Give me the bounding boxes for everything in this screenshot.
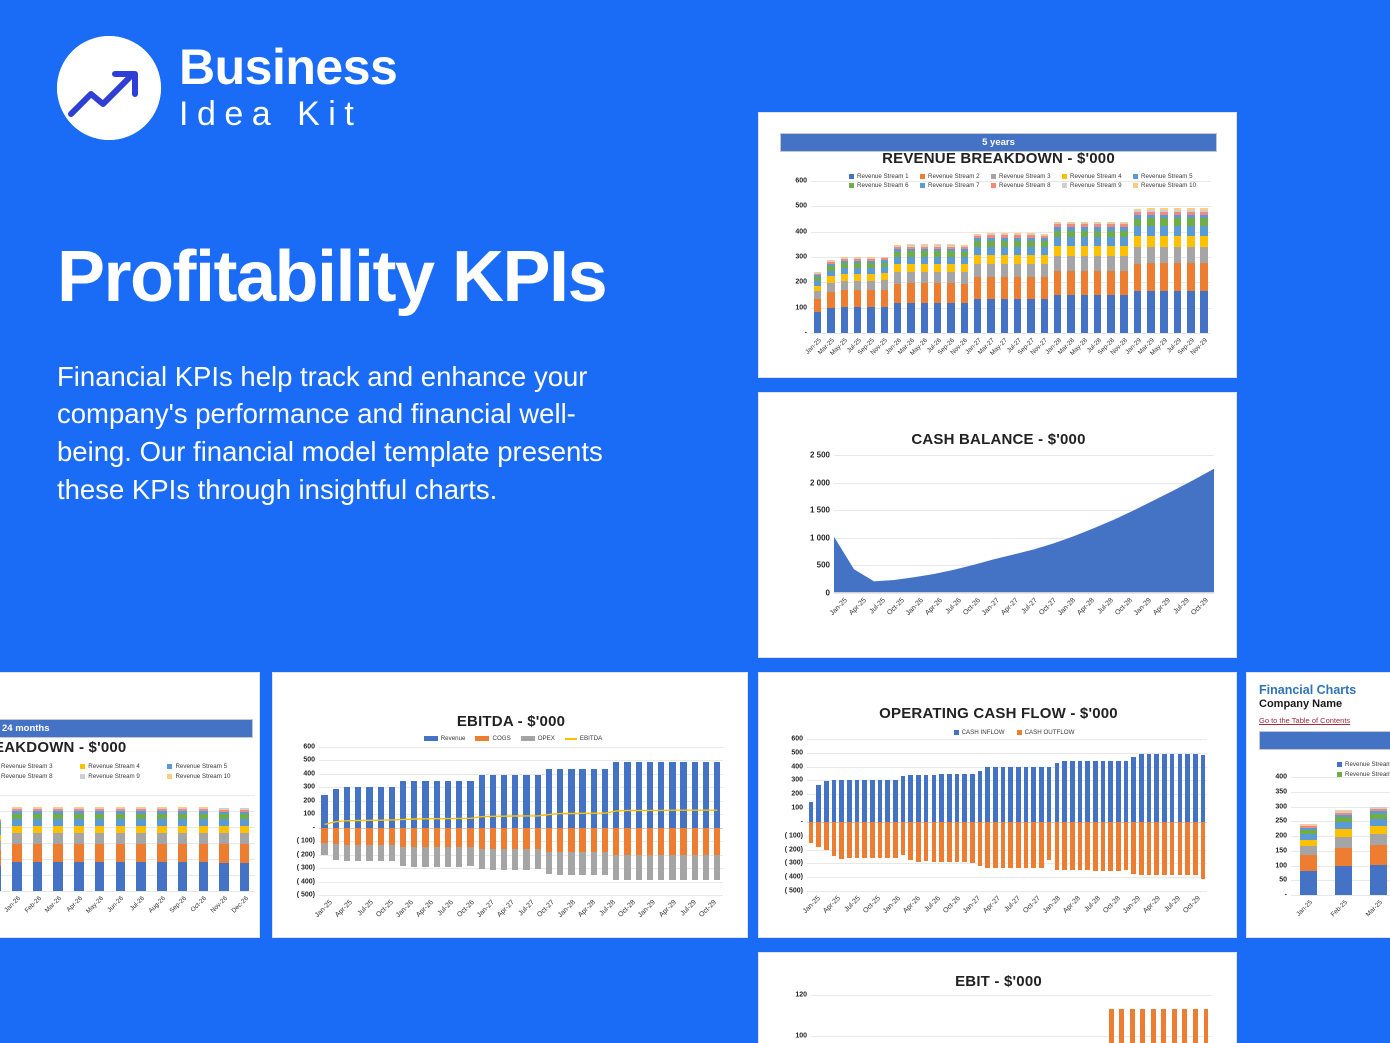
bar-segment <box>921 283 928 303</box>
bar-slot <box>1153 739 1161 891</box>
legend-item: Revenue Stream 4 <box>1062 173 1133 180</box>
bar-segment <box>947 257 954 264</box>
bar-segment <box>854 307 861 333</box>
revenue-bar <box>624 762 630 828</box>
stacked-bar <box>0 819 1 891</box>
x-axis-tick-label: Sep-26 <box>168 895 188 915</box>
stacked-bar <box>1094 222 1101 333</box>
opex-bar <box>523 849 529 869</box>
bar-segment <box>1134 219 1141 226</box>
axis-line <box>834 592 1214 593</box>
x-axis-tick-label: Apr-25 <box>848 597 868 617</box>
cash-outflow-bar <box>1093 822 1098 871</box>
legend-item-revenue: Revenue <box>424 735 466 742</box>
bar-segment <box>0 850 1 866</box>
bar-slot <box>27 795 48 891</box>
bar-segment <box>1160 226 1167 236</box>
bar-segment <box>1054 256 1061 270</box>
revenue-bar <box>378 787 384 827</box>
bar-segment <box>178 862 188 891</box>
bar-slot <box>969 995 980 1043</box>
bar-segment <box>95 844 105 862</box>
opex-bar <box>613 855 619 880</box>
bar-segment <box>907 283 914 303</box>
bar-segment <box>1027 247 1034 255</box>
opex-bar <box>378 845 384 861</box>
bar-segment <box>921 303 928 333</box>
card-operating-cash-flow[interactable]: OPERATING CASH FLOW - $'000 CASH INFLOW … <box>758 672 1237 938</box>
legend-swatch-icon <box>80 764 85 769</box>
bar-segment <box>219 844 229 862</box>
x-axis-tick-label: Oct-26 <box>456 899 476 919</box>
cash-inflow-bar <box>1078 761 1083 822</box>
cogs-bar <box>535 828 541 850</box>
bar-segment <box>814 312 821 333</box>
bar-slot <box>656 747 667 895</box>
y-axis-tick-label: 100 <box>303 811 315 818</box>
bar-slot <box>1184 739 1192 891</box>
bar-segment <box>33 844 43 862</box>
revenue-bar <box>467 781 473 828</box>
revenue-bar <box>411 781 417 828</box>
opex-bar <box>557 852 563 875</box>
y-axis-tick-label: ( 100) <box>297 838 315 845</box>
bar-segment <box>1120 237 1127 246</box>
bar-slot <box>822 995 833 1043</box>
bar-slot <box>811 995 822 1043</box>
cash-inflow-bar <box>1201 755 1206 822</box>
card-cash-balance[interactable]: CASH BALANCE - $'000 2 5002 0001 5001 00… <box>758 392 1237 658</box>
opex-bar <box>568 852 574 875</box>
bar-segment <box>157 833 167 844</box>
legend-label: CASH INFLOW <box>962 729 1005 736</box>
bar-group <box>319 747 723 895</box>
stacked-bar <box>178 807 188 891</box>
bar-segment <box>1067 256 1074 270</box>
bar-segment <box>961 264 968 272</box>
revenue-bar <box>692 762 698 828</box>
bar-slot <box>895 995 906 1043</box>
x-axis-tick-label: Jul-26 <box>437 899 455 917</box>
bar-slot <box>1158 181 1171 333</box>
cash-inflow-bar <box>1147 754 1152 822</box>
bar-slot <box>1199 739 1207 891</box>
x-axis-tick-label: Jul-25 <box>844 895 862 913</box>
bar-slot <box>1011 181 1024 333</box>
bar-segment <box>33 819 43 826</box>
bar-slot <box>1068 739 1076 891</box>
bar-segment <box>1134 236 1141 247</box>
bar-segment <box>1370 845 1388 864</box>
ebit-bar <box>1204 1009 1209 1043</box>
bar-segment <box>934 303 941 333</box>
x-axis-tick-label: Jul-27 <box>1004 895 1022 913</box>
bar-slot <box>958 181 971 333</box>
cogs-bar <box>411 828 417 847</box>
bar-segment <box>947 272 954 284</box>
bar-slot <box>1176 739 1184 891</box>
bar-segment <box>974 277 981 299</box>
bar-slot <box>811 181 824 333</box>
cash-inflow-bar <box>908 775 913 822</box>
cash-inflow-bar <box>1085 761 1090 822</box>
stacked-bar <box>881 257 888 334</box>
cogs-bar <box>624 828 630 855</box>
cash-outflow-bar <box>855 822 860 858</box>
bar-slot <box>998 181 1011 333</box>
bar-slot <box>1148 995 1159 1043</box>
bar-segment <box>1081 237 1088 246</box>
bar-slot <box>948 995 959 1043</box>
cogs-bar <box>636 828 642 855</box>
bar-segment <box>1001 264 1008 277</box>
x-axis-tick-label: Jan-28 <box>1056 597 1076 617</box>
x-axis-tick-label: Jan-29 <box>1122 895 1142 915</box>
cogs-bar <box>389 828 395 845</box>
bar-slot <box>958 995 969 1043</box>
chart-title-ebitda: EBITDA - $'000 <box>293 713 729 730</box>
cash-outflow-bar <box>1031 822 1036 868</box>
legend-swatch-icon <box>167 764 172 769</box>
bar-segment <box>95 819 105 826</box>
cash-outflow-bar <box>1124 822 1129 870</box>
bar-segment <box>1107 231 1114 238</box>
bar-segment <box>1335 822 1353 829</box>
cash-outflow-bar <box>1016 822 1021 868</box>
x-axis-tick-label: Apr-27 <box>1000 597 1020 617</box>
bar-slot <box>984 181 997 333</box>
x-axis-tick-label: Oct-28 <box>1102 895 1122 915</box>
legend-swatch-icon <box>849 174 854 179</box>
revenue-bar <box>546 769 552 828</box>
bar-slot <box>110 795 131 891</box>
legend-label: Revenue Stream 10 <box>175 773 230 780</box>
bar-segment <box>1160 236 1167 247</box>
hero-description: Financial KPIs help track and enhance yo… <box>57 358 637 509</box>
cogs-bar <box>378 828 384 845</box>
opex-bar <box>479 849 485 869</box>
bar-segment <box>240 863 250 891</box>
bar-slot <box>420 747 431 895</box>
bar-segment <box>961 272 968 283</box>
bar-slot <box>69 795 90 891</box>
plot-ebit: 12010080 <box>811 995 1211 1043</box>
bar-slot <box>906 995 917 1043</box>
bar-segment <box>827 283 834 292</box>
company-name-label: Company Name <box>1259 698 1356 710</box>
bar-slot <box>945 739 953 891</box>
gridline <box>0 891 255 892</box>
bar-slot <box>577 747 588 895</box>
opex-bar <box>490 849 496 869</box>
bar-segment <box>74 862 84 891</box>
revenue-bar <box>344 787 350 827</box>
bar-segment <box>1200 226 1207 236</box>
bar-slot <box>633 747 644 895</box>
x-axis-tick-label: Jan-26 <box>904 597 924 617</box>
bar-slot <box>151 795 172 891</box>
x-axis-tick-label: Apr-25 <box>334 899 354 919</box>
bar-slot <box>1130 739 1138 891</box>
bar-segment <box>1014 264 1021 277</box>
card-financial-charts[interactable]: Financial Charts Company Name Go to the … <box>1246 672 1390 938</box>
page-title: Profitability KPIs <box>57 240 697 316</box>
bar-segment <box>1187 226 1194 236</box>
legend-label: Revenue Stream 1 <box>857 173 909 180</box>
bar-segment <box>157 819 167 826</box>
y-axis-tick-label: - <box>801 818 803 825</box>
bar-segment <box>1200 247 1207 263</box>
x-axis-tick-label: Oct-25 <box>886 597 906 617</box>
cash-inflow-bar <box>824 781 829 822</box>
bar-slot <box>386 747 397 895</box>
x-axis-tick-label: Oct-25 <box>375 899 395 919</box>
cogs-bar <box>613 828 619 855</box>
y-axis-tick-label: ( 300) <box>785 860 803 867</box>
bar-segment <box>921 272 928 284</box>
bar-segment <box>907 264 914 272</box>
bar-slot <box>398 747 409 895</box>
x-axis-tick-label: Jul-25 <box>868 597 886 615</box>
cash-inflow-bar <box>1039 767 1044 822</box>
bar-slot <box>442 747 453 895</box>
cash-outflow-bar <box>893 822 898 858</box>
bar-segment <box>33 862 43 891</box>
bar-segment <box>53 819 63 826</box>
y-axis-tick-label: 1 500 <box>810 506 830 515</box>
cash-inflow-bar <box>985 767 990 822</box>
bar-segment <box>1187 291 1194 333</box>
bar-slot <box>566 747 577 895</box>
cash-inflow-bar <box>978 771 983 822</box>
bar-segment <box>157 862 167 891</box>
bar-slot <box>1201 995 1212 1043</box>
table-of-contents-link[interactable]: Go to the Table of Contents <box>1259 716 1350 725</box>
bar-slot <box>1053 739 1061 891</box>
opex-bar <box>344 845 350 861</box>
bar-segment <box>199 844 209 862</box>
x-axis-tick-label: Jul-28 <box>1084 895 1102 913</box>
bar-slot <box>990 995 1001 1043</box>
stacked-bar <box>1160 208 1167 333</box>
x-axis-tick-label: Oct-29 <box>698 899 718 919</box>
bar-segment <box>219 826 229 834</box>
x-axis-tick-label: Dec-25 <box>0 895 1 915</box>
y-axis-tick-label: 300 <box>1275 803 1287 810</box>
bar-segment <box>974 299 981 333</box>
legend-item: Revenue Stream 4 <box>80 763 167 770</box>
bar-segment <box>1014 277 1021 299</box>
financial-charts-title: Financial Charts <box>1259 683 1356 697</box>
legend-ebitda: Revenue COGS OPEX EBITDA <box>413 735 613 742</box>
legend-swatch-icon <box>1337 762 1342 767</box>
y-axis-tick-label: 100 <box>795 304 807 311</box>
bar-segment <box>1174 263 1181 290</box>
stacked-bar <box>1134 209 1141 333</box>
cogs-bar <box>591 828 597 852</box>
bar-slot <box>1169 995 1180 1043</box>
stacked-bar <box>33 807 43 891</box>
bar-segment <box>95 862 105 891</box>
cash-outflow-bar <box>1062 822 1067 870</box>
bar-slot <box>1168 739 1176 891</box>
bar-slot <box>937 995 948 1043</box>
stacked-bar <box>1300 824 1318 895</box>
cogs-bar <box>680 828 686 855</box>
card-ebit[interactable]: EBIT - $'000 12010080 <box>758 952 1237 1043</box>
legend-item: Revenue Stream 3 <box>0 763 80 770</box>
bar-slot <box>1159 995 1170 1043</box>
stacked-bar <box>867 257 874 333</box>
bar-segment <box>74 826 84 834</box>
bar-segment <box>1160 291 1167 333</box>
x-axis-tick-label: Apr-28 <box>1062 895 1082 915</box>
x-axis-tick-label: Jan-27 <box>962 895 982 915</box>
bar-slot <box>976 739 984 891</box>
y-axis-tick-label: ( 300) <box>297 865 315 872</box>
bar-slot <box>1064 181 1077 333</box>
cash-inflow-bar <box>1070 761 1075 822</box>
opex-bar <box>366 845 372 861</box>
legend-label: Revenue Stream 1 <box>1345 761 1390 768</box>
cash-inflow-bar <box>855 780 860 822</box>
bar-segment <box>53 844 63 862</box>
bar-group <box>811 181 1211 333</box>
bar-slot <box>1015 739 1023 891</box>
stacked-bar <box>1120 222 1127 333</box>
bar-slot <box>815 739 823 891</box>
cash-inflow-bar <box>1185 754 1190 822</box>
bar-slot <box>922 739 930 891</box>
x-axis-tick-label: Oct-26 <box>190 895 209 914</box>
cogs-bar <box>479 828 485 850</box>
bar-segment <box>1120 231 1127 238</box>
bar-slot <box>454 747 465 895</box>
bar-segment <box>867 274 874 281</box>
opex-bar <box>692 855 698 880</box>
cash-outflow-bar <box>932 822 937 862</box>
cash-inflow-bar <box>1016 767 1021 822</box>
cash-inflow-bar <box>1131 757 1136 822</box>
y-axis-tick-label: ( 200) <box>297 851 315 858</box>
cash-outflow-bar <box>1131 822 1136 874</box>
legend-operating-cash-flow: CASH INFLOW CASH OUTFLOW <box>924 729 1104 736</box>
x-axis-tick-label: Jul-27 <box>518 899 536 917</box>
bar-segment <box>881 290 888 307</box>
stacked-bar <box>12 807 22 891</box>
bar-slot <box>6 795 27 891</box>
x-axis-tick-label: Apr-26 <box>924 597 944 617</box>
x-axis-tick-label: Apr-29 <box>1152 597 1172 617</box>
card-ebitda[interactable]: EBITDA - $'000 Revenue COGS OPEX EBITDA … <box>272 672 748 938</box>
bar-segment <box>1107 246 1114 256</box>
y-axis-tick-label: 300 <box>795 254 807 261</box>
cash-outflow-bar <box>924 822 929 861</box>
bar-segment <box>934 264 941 272</box>
legend-label: Revenue <box>441 735 466 742</box>
bar-slot <box>131 795 152 891</box>
legend-item: Revenue Stream 1 <box>1337 761 1390 768</box>
bar-segment <box>1054 237 1061 246</box>
legend-swatch-icon <box>167 774 172 779</box>
cash-inflow-bar <box>939 774 944 822</box>
bar-slot <box>1022 739 1030 891</box>
bar-slot <box>1091 739 1099 891</box>
y-axis-tick-label: 120 <box>795 992 807 999</box>
x-axis-tick-label: Jan-29 <box>637 899 657 919</box>
legend-label: Revenue Stream 2 <box>928 173 980 180</box>
cash-inflow-bar <box>847 780 852 822</box>
bar-segment <box>1081 271 1088 296</box>
revenue-bar <box>389 787 395 828</box>
cogs-bar <box>669 828 675 855</box>
bar-segment <box>74 833 84 844</box>
bar-segment <box>1107 237 1114 246</box>
y-axis-tick-label: 300 <box>303 784 315 791</box>
bar-segment <box>1014 255 1021 264</box>
bar-slot <box>968 739 976 891</box>
bar-slot <box>992 739 1000 891</box>
bar-slot <box>1038 181 1051 333</box>
cogs-bar <box>512 828 518 850</box>
chart-title-ebit: EBIT - $'000 <box>779 973 1218 990</box>
bar-segment <box>1107 271 1114 296</box>
cash-outflow-bar <box>878 822 883 858</box>
cogs-bar <box>434 828 440 847</box>
bar-segment <box>814 299 821 312</box>
bar-segment <box>1081 246 1088 256</box>
cash-outflow-bar <box>1139 822 1144 875</box>
x-axis-tick-label: Oct-29 <box>1182 895 1202 915</box>
slide-canvas: Business Idea Kit Profitability KPIs Fin… <box>0 0 1390 1043</box>
x-axis-tick-label: Aug-26 <box>147 895 167 915</box>
cash-outflow-bar <box>847 822 852 858</box>
revenue-bar <box>680 762 686 828</box>
bar-slot <box>1043 995 1054 1043</box>
stacked-bar <box>907 244 914 333</box>
bar-segment <box>1094 246 1101 256</box>
y-axis-tick-label: - <box>805 330 807 337</box>
opex-bar <box>501 849 507 869</box>
cash-outflow-bar <box>947 822 952 862</box>
bar-slot <box>878 181 891 333</box>
bar-segment <box>1187 236 1194 247</box>
y-axis-tick-label: 2 500 <box>810 451 830 460</box>
cash-inflow-bar <box>1101 761 1106 822</box>
bar-segment <box>219 819 229 826</box>
opex-bar <box>321 843 327 856</box>
bar-slot <box>1038 739 1046 891</box>
cash-outflow-bar <box>1001 822 1006 868</box>
bar-slot <box>532 747 543 895</box>
bar-segment <box>894 284 901 303</box>
bar-slot <box>678 747 689 895</box>
bar-segment <box>1370 826 1388 834</box>
bar-segment <box>1174 226 1181 236</box>
cash-outflow-bar <box>1147 822 1152 875</box>
y-axis-tick-label: 2 000 <box>810 478 830 487</box>
card-revenue-breakdown-24m[interactable]: 24 months REAKDOWN - $'000 Revenue Strea… <box>0 672 260 938</box>
cash-outflow-bar <box>1108 822 1113 871</box>
card-revenue-breakdown-5y[interactable]: 5 years REVENUE BREAKDOWN - $'000 Revenu… <box>758 112 1237 378</box>
bar-segment <box>867 290 874 307</box>
bar-segment <box>961 284 968 303</box>
revenue-bar <box>366 787 372 827</box>
chart-title-revenue-breakdown: REVENUE BREAKDOWN - $'000 <box>780 150 1217 167</box>
bar-segment <box>1335 837 1353 848</box>
bar-segment <box>1134 291 1141 333</box>
cash-inflow-bar <box>1178 754 1183 822</box>
